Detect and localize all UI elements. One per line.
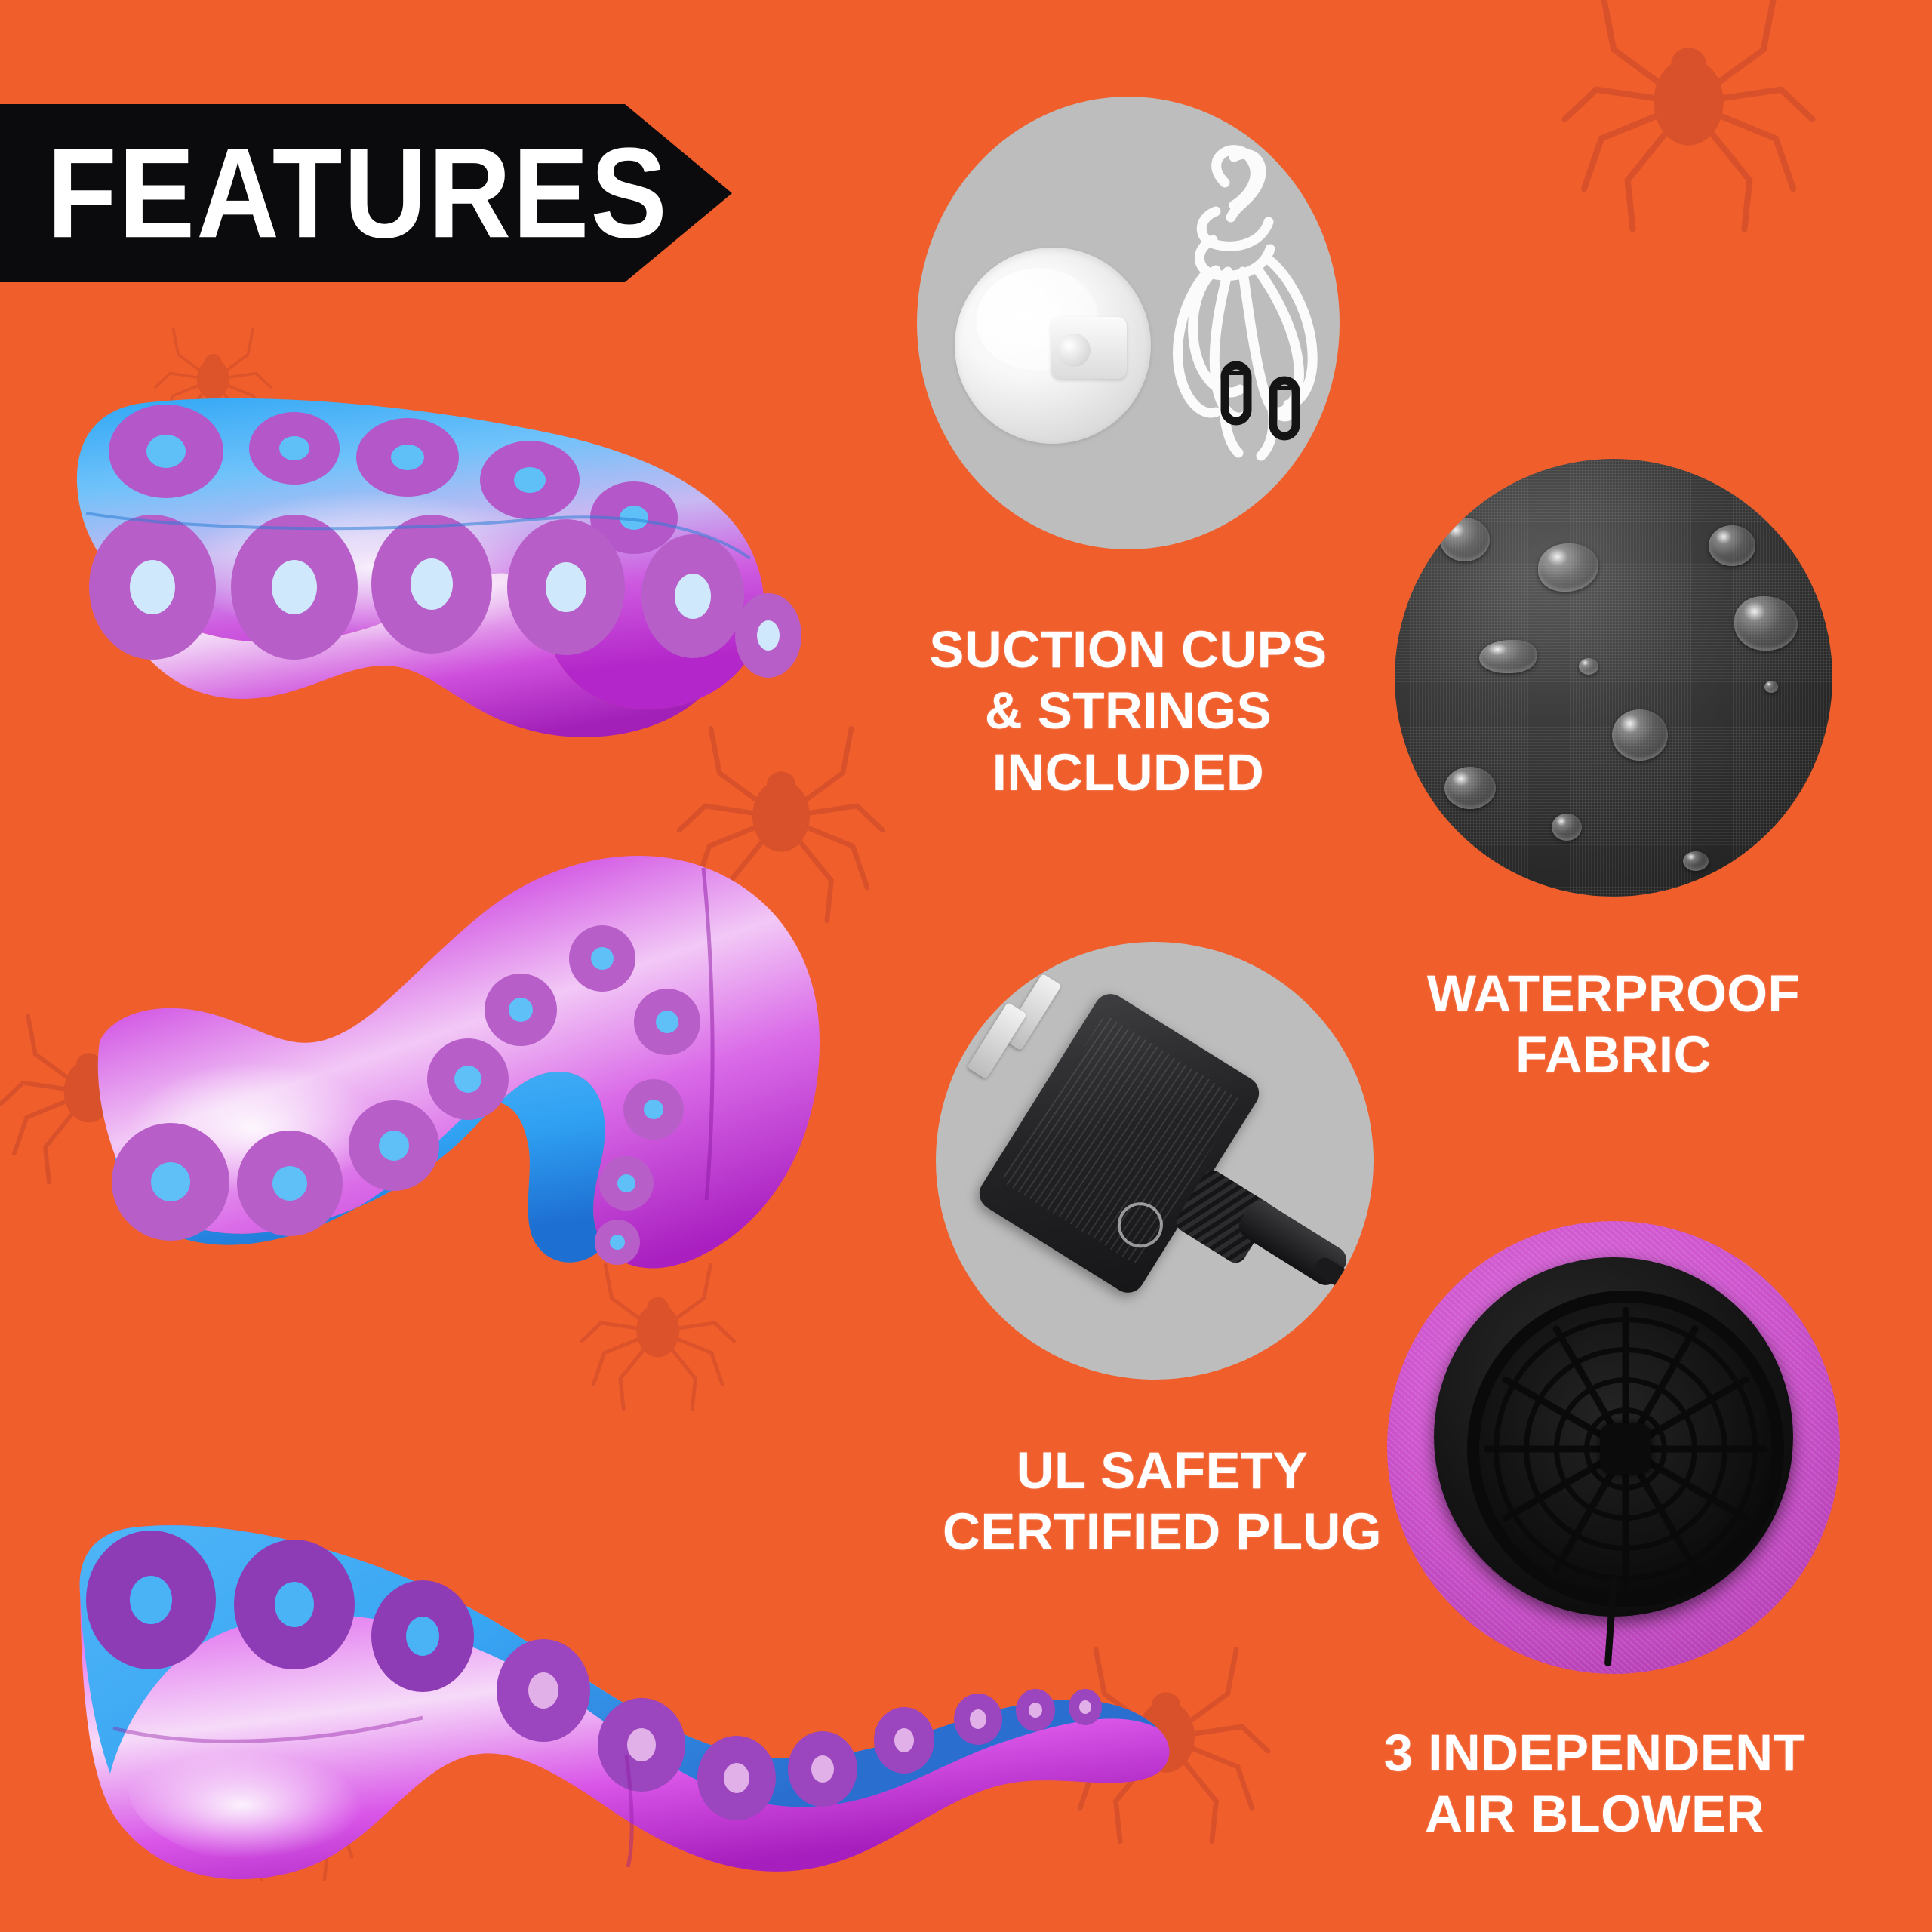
spider-watermark — [619, 717, 921, 943]
suction-cup-knob-icon — [1051, 317, 1127, 379]
water-droplet-icon — [1440, 518, 1490, 561]
ul-certification-mark — [1110, 1195, 1171, 1255]
feature-label-waterproof: WATERPROOF FABRIC — [1387, 963, 1840, 1086]
water-droplet-icon — [1709, 525, 1755, 566]
water-droplet-icon — [1444, 767, 1496, 809]
ul-plug-photo — [936, 942, 1374, 1380]
tentacle-top-image — [53, 370, 913, 751]
waterproof-fabric-photo — [1395, 459, 1832, 897]
tentacle-middle-image — [30, 823, 883, 1355]
features-banner: FEATURES — [0, 104, 732, 282]
spider-watermark — [528, 1253, 785, 1449]
spider-watermark — [1004, 1638, 1306, 1864]
tentacle-bottom-image — [68, 1502, 1200, 1928]
water-droplet-icon — [1734, 596, 1798, 651]
rope-bundle-icon — [1143, 127, 1340, 474]
page-title: FEATURES — [47, 129, 669, 257]
water-droplet-icon — [1579, 658, 1598, 675]
infographic-canvas: FEATURES — [0, 0, 1932, 1932]
spider-watermark — [106, 317, 332, 491]
water-droplet-icon — [1764, 681, 1778, 693]
feature-label-suction-cups: SUCTION CUPS & STRINGS INCLUDED — [906, 619, 1351, 803]
water-droplet-icon — [1479, 640, 1537, 673]
blower-grille — [1467, 1291, 1784, 1607]
water-droplet-icon — [1552, 814, 1582, 841]
water-droplet-icon — [1612, 709, 1668, 761]
blower-housing — [1434, 1257, 1793, 1617]
spider-watermark — [0, 1004, 219, 1215]
air-blower-photo — [1387, 1221, 1840, 1674]
spider-watermark — [174, 1736, 415, 1924]
feature-label-ul-plug: UL SAFETY CERTIFIED PLUG — [913, 1440, 1411, 1563]
water-droplet-icon — [1683, 851, 1709, 871]
spider-watermark — [1494, 0, 1841, 234]
feature-label-air-blower: 3 INDEPENDENT AIR BLOWER — [1349, 1722, 1840, 1845]
blower-hub — [1600, 1423, 1651, 1475]
suction-cups-photo — [917, 97, 1340, 549]
